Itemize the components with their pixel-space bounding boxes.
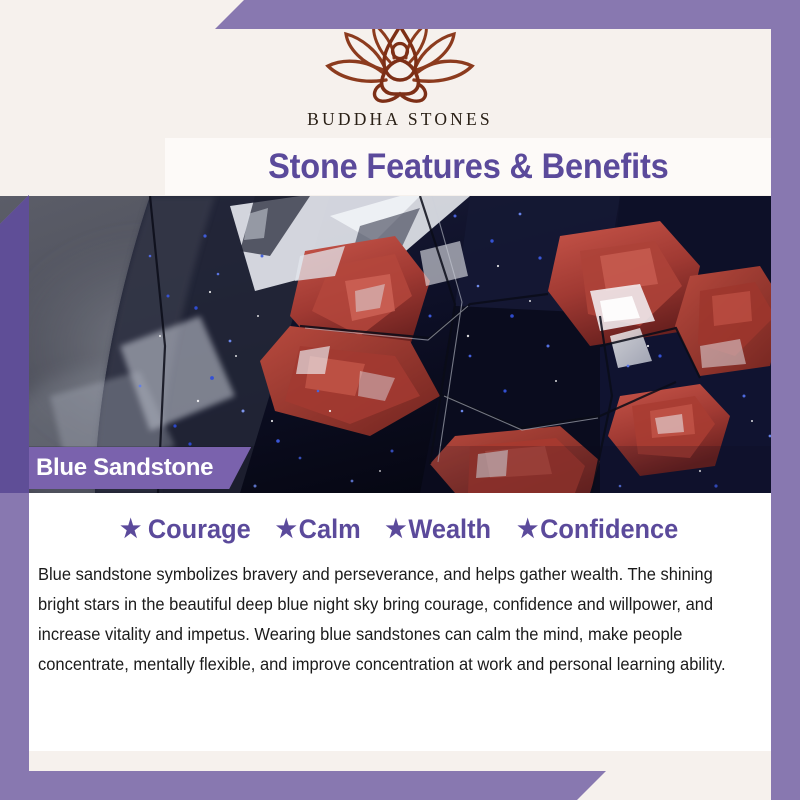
stone-name-label: Blue Sandstone <box>36 454 213 482</box>
brand-name: BUDDHA STONES <box>307 109 493 130</box>
keyword-label: Courage <box>148 514 251 545</box>
star-icon: ★ <box>121 517 142 542</box>
keyword-label: Wealth <box>408 514 491 545</box>
title-banner: Stone Features & Benefits <box>165 138 771 195</box>
description-text: Blue sandstone symbolizes bravery and pe… <box>38 559 733 679</box>
bottom-spacer <box>0 751 800 800</box>
keyword-item: ★Calm <box>276 514 361 545</box>
keyword-item: ★Courage <box>121 514 252 545</box>
star-icon: ★ <box>517 517 538 542</box>
keyword-label: Calm <box>299 514 361 545</box>
keyword-item: ★Confidence <box>517 514 678 545</box>
keyword-item: ★Wealth <box>385 514 491 545</box>
star-icon: ★ <box>276 517 297 542</box>
star-icon: ★ <box>385 517 406 542</box>
content-panel: ★Courage★Calm★Wealth★Confidence Blue san… <box>0 493 800 751</box>
status-badge: Blue Sandstone <box>14 447 251 489</box>
brand-logo: BUDDHA STONES <box>0 22 800 130</box>
lotus-meditation-icon <box>322 22 478 104</box>
page-title: Stone Features & Benefits <box>268 147 669 187</box>
keyword-label: Confidence <box>540 514 678 545</box>
keyword-list: ★Courage★Calm★Wealth★Confidence <box>0 493 800 545</box>
